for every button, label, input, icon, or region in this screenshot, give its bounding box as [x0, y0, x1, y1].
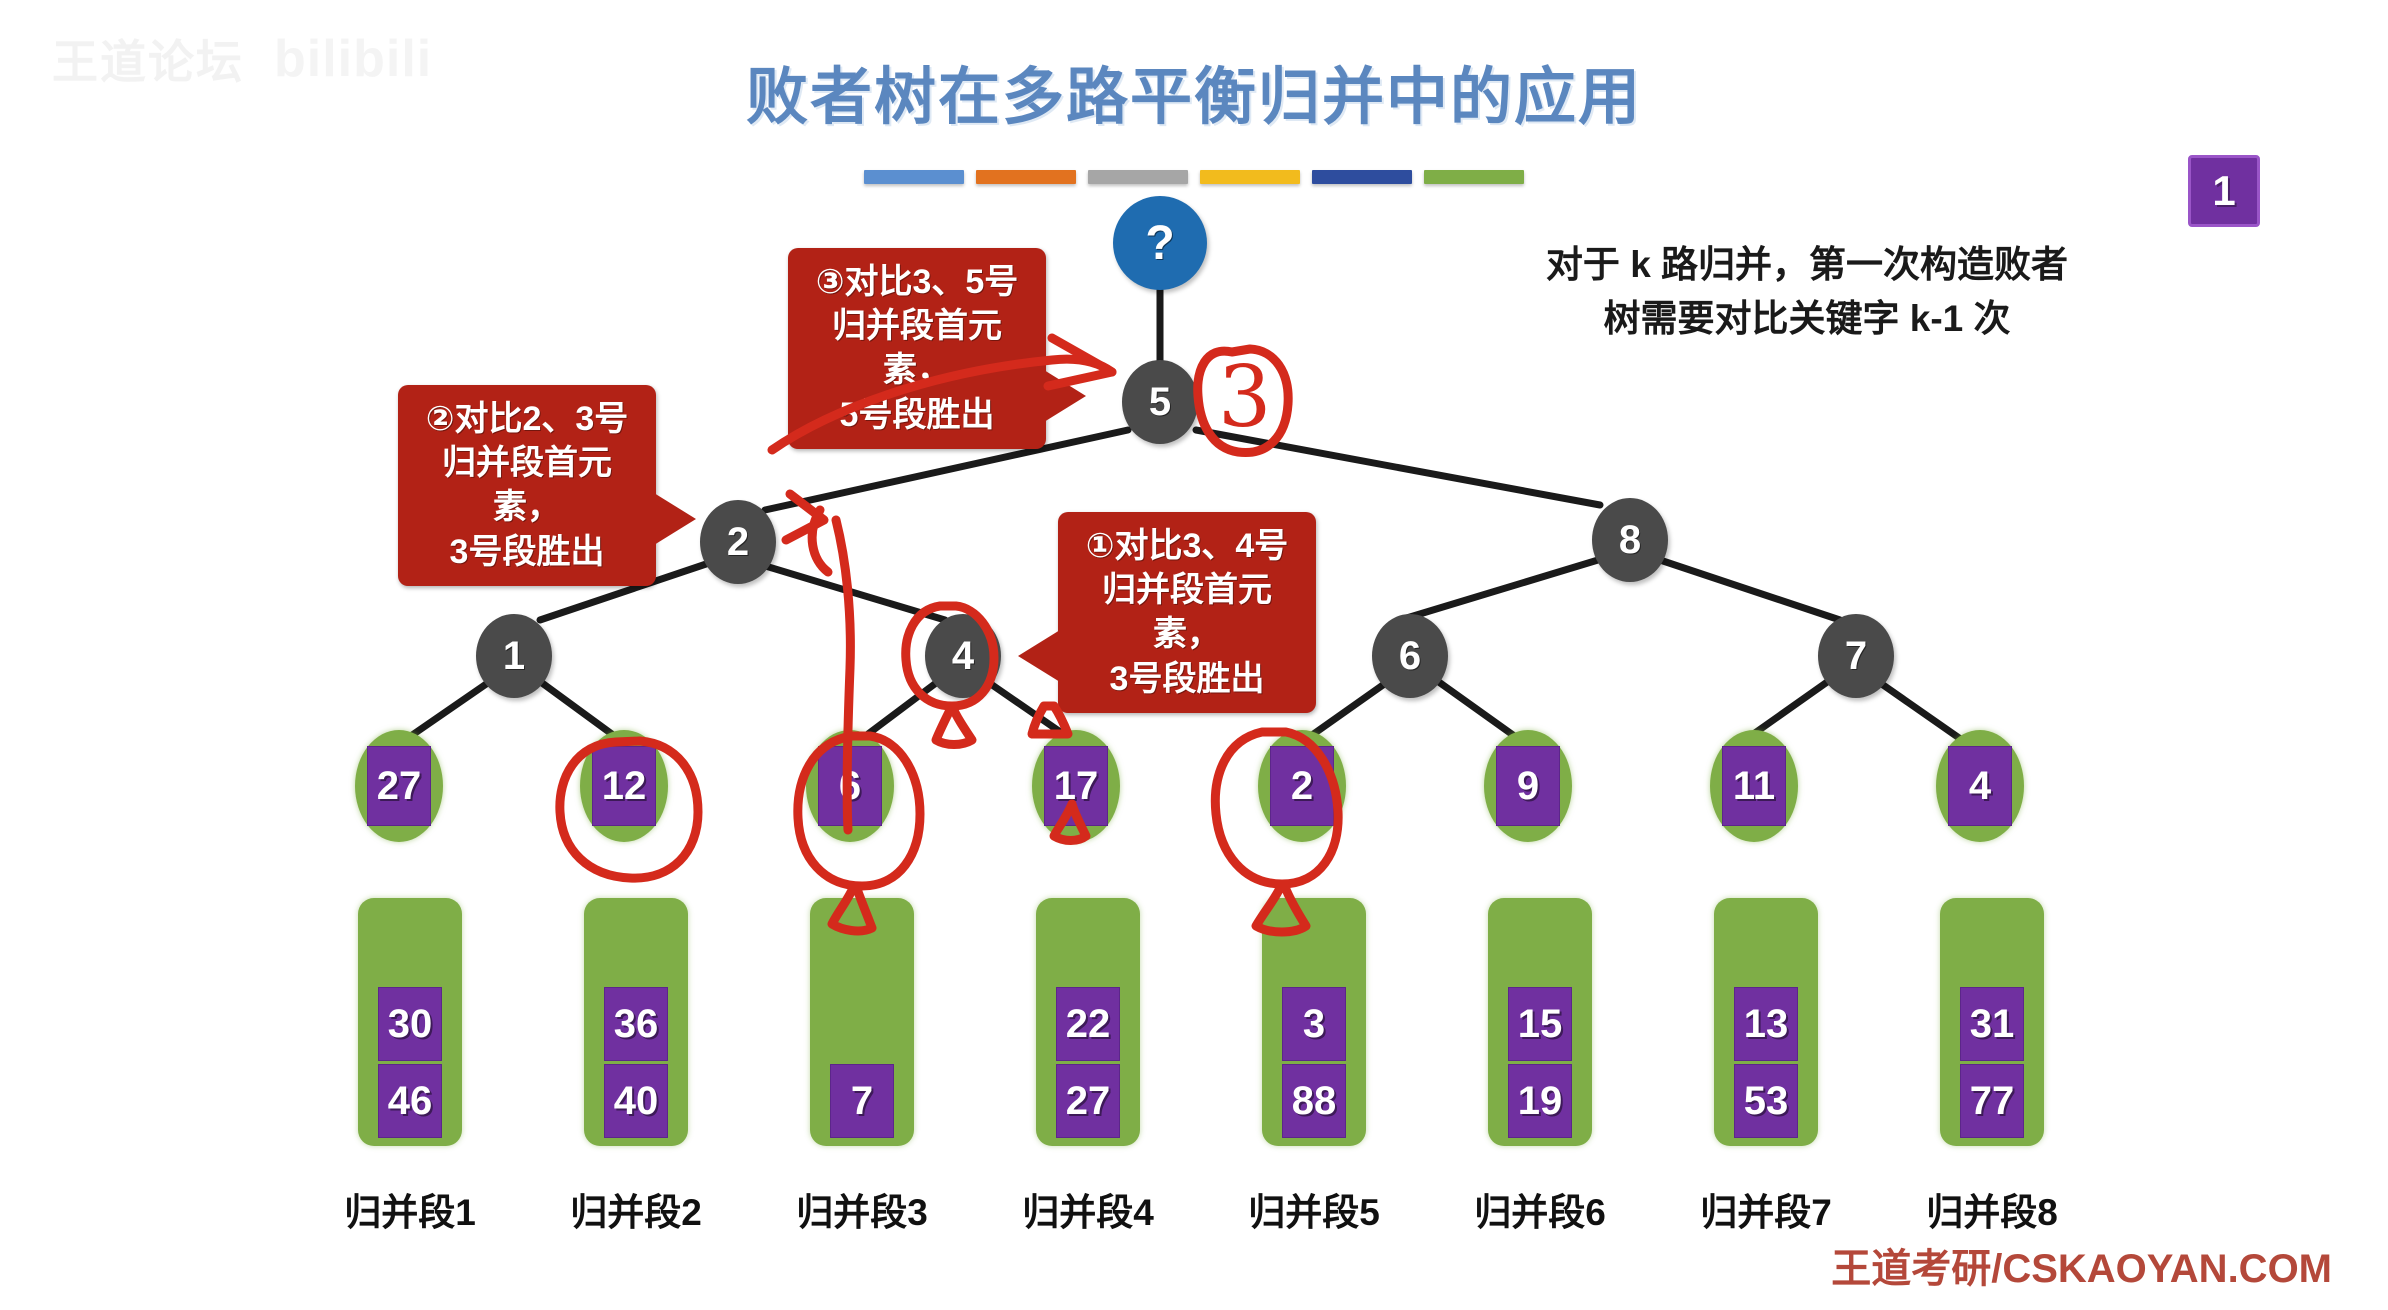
side-note-line-1: 对于 k 路归并，第一次构造败者 — [1522, 238, 2092, 292]
segment-label-2: 归并段2 — [526, 1182, 746, 1236]
tree-node-4-label: 4 — [952, 634, 974, 679]
title-bar-2 — [976, 170, 1076, 184]
segment-cell: 88 — [1282, 1064, 1346, 1138]
merge-segment-5: 3 88 — [1262, 898, 1366, 1146]
tree-node-4: 4 — [925, 614, 1001, 698]
leaf-node-3: 6 — [806, 730, 894, 842]
title-decoration-bars — [0, 170, 2388, 184]
callout-step-2-line-3: 3号段胜出 — [414, 530, 640, 574]
side-note: 对于 k 路归并，第一次构造败者 树需要对比关键字 k-1 次 — [1522, 238, 2092, 345]
title-bar-1 — [864, 170, 964, 184]
callout-step-2: ②对比2、3号 归并段首元素， 3号段胜出 — [398, 385, 656, 586]
leaf-value: 12 — [592, 746, 656, 826]
tree-node-5: 5 — [1122, 360, 1198, 444]
tree-node-2-label: 2 — [727, 520, 749, 565]
leaf-value: 17 — [1044, 746, 1108, 826]
callout-step-3: ③对比3、5号 归并段首元素， 5号段胜出 — [788, 248, 1046, 449]
leaf-node-2: 12 — [580, 730, 668, 842]
segment-cell: 36 — [604, 987, 668, 1061]
tree-node-8-label: 8 — [1619, 518, 1641, 563]
callout-step-2-line-2: 归并段首元素， — [414, 441, 640, 529]
callout-step-1-line-1: ①对比3、4号 — [1074, 524, 1300, 568]
tree-node-1: 1 — [476, 614, 552, 698]
segment-label-8: 归并段8 — [1882, 1182, 2102, 1236]
ink-handwritten-three: 3 — [1218, 348, 1271, 446]
title-bar-6 — [1424, 170, 1524, 184]
tree-node-8: 8 — [1592, 498, 1668, 582]
segment-cell: 77 — [1960, 1064, 2024, 1138]
segment-cell: 40 — [604, 1064, 668, 1138]
segment-cell: 7 — [830, 1064, 894, 1138]
callout-step-3-line-3: 5号段胜出 — [804, 393, 1030, 437]
leaf-node-6: 9 — [1484, 730, 1572, 842]
tree-node-root-label: ? — [1145, 216, 1174, 271]
callout-step-2-line-1: ②对比2、3号 — [414, 397, 640, 441]
page-title: 败者树在多路平衡归并中的应用 — [0, 46, 2388, 136]
tree-node-7-label: 7 — [1845, 634, 1867, 679]
tree-node-6-label: 6 — [1399, 634, 1421, 679]
leaf-value: 2 — [1270, 746, 1334, 826]
title-bar-3 — [1088, 170, 1188, 184]
leaf-value: 11 — [1722, 746, 1786, 826]
title-bar-5 — [1312, 170, 1412, 184]
title-bar-4 — [1200, 170, 1300, 184]
segment-cell: 3 — [1282, 987, 1346, 1061]
segment-label-5: 归并段5 — [1204, 1182, 1424, 1236]
leaf-value: 6 — [818, 746, 882, 826]
tree-node-2: 2 — [700, 500, 776, 584]
callout-step-1-line-2: 归并段首元素， — [1074, 568, 1300, 656]
tree-node-root: ? — [1113, 196, 1207, 290]
segment-label-1: 归并段1 — [300, 1182, 520, 1236]
callout-step-1: ①对比3、4号 归并段首元素， 3号段胜出 — [1058, 512, 1316, 713]
leaf-value: 9 — [1496, 746, 1560, 826]
slide-canvas: 王道论坛 bilibili 败者树在多路平衡归并中的应用 1 对于 k 路归并，… — [0, 0, 2388, 1310]
side-note-line-2: 树需要对比关键字 k-1 次 — [1522, 292, 2092, 346]
tree-node-5-label: 5 — [1149, 380, 1171, 425]
leaf-node-5: 2 — [1258, 730, 1346, 842]
merge-segment-7: 13 53 — [1714, 898, 1818, 1146]
segment-cell: 46 — [378, 1064, 442, 1138]
callout-step-3-line-2: 归并段首元素， — [804, 304, 1030, 392]
tree-node-7: 7 — [1818, 614, 1894, 698]
leaf-value: 4 — [1948, 746, 2012, 826]
leaf-value: 27 — [367, 746, 431, 826]
segment-cell: 19 — [1508, 1064, 1572, 1138]
merge-segment-3: 7 — [810, 898, 914, 1146]
segment-label-4: 归并段4 — [978, 1182, 1198, 1236]
segment-label-3: 归并段3 — [752, 1182, 972, 1236]
merge-segment-4: 22 27 — [1036, 898, 1140, 1146]
leaf-node-4: 17 — [1032, 730, 1120, 842]
segment-cell: 27 — [1056, 1064, 1120, 1138]
page-number-badge: 1 — [2188, 155, 2260, 227]
segment-cell: 31 — [1960, 987, 2024, 1061]
segment-cell: 53 — [1734, 1064, 1798, 1138]
merge-segment-1: 30 46 — [358, 898, 462, 1146]
tree-node-1-label: 1 — [503, 634, 525, 679]
segment-label-7: 归并段7 — [1656, 1182, 1876, 1236]
callout-step-1-line-3: 3号段胜出 — [1074, 657, 1300, 701]
leaf-node-1: 27 — [355, 730, 443, 842]
segment-label-6: 归并段6 — [1430, 1182, 1650, 1236]
ink-pointer-node-4 — [936, 706, 972, 745]
segment-cell: 15 — [1508, 987, 1572, 1061]
ink-arrowhead-node-2 — [786, 494, 824, 540]
segment-cell: 13 — [1734, 987, 1798, 1061]
watermark-bottom-right: 王道考研/CSKAOYAN.COM — [1831, 1236, 2332, 1294]
merge-segment-6: 15 19 — [1488, 898, 1592, 1146]
leaf-node-7: 11 — [1710, 730, 1798, 842]
segment-cell: 30 — [378, 987, 442, 1061]
merge-segment-8: 31 77 — [1940, 898, 2044, 1146]
leaf-node-8: 4 — [1936, 730, 2024, 842]
merge-segment-2: 36 40 — [584, 898, 688, 1146]
segment-cell: 22 — [1056, 987, 1120, 1061]
tree-node-6: 6 — [1372, 614, 1448, 698]
callout-step-3-line-1: ③对比3、5号 — [804, 260, 1030, 304]
